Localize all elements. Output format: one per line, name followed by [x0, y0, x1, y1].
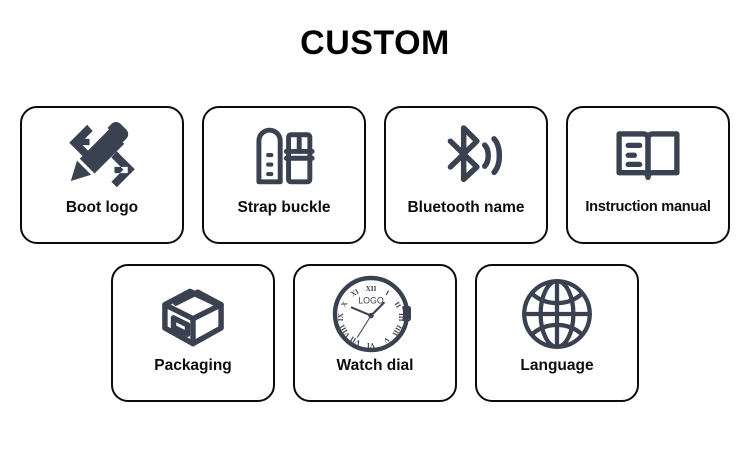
- watch-strap-buckle-icon: [246, 112, 322, 200]
- open-box-icon: [154, 270, 232, 358]
- svg-text:IX: IX: [337, 312, 345, 321]
- svg-text:III: III: [397, 313, 405, 322]
- option-label: Strap buckle: [204, 200, 364, 216]
- option-label: Boot logo: [22, 200, 182, 216]
- watch-dial-logo-text: LOGO: [358, 296, 384, 306]
- option-label: Packaging: [113, 358, 273, 374]
- globe-icon: [518, 270, 596, 358]
- pencil-design-icon: [63, 112, 141, 200]
- option-card-language[interactable]: Language: [475, 264, 639, 402]
- options-row-2: Packaging XII I II: [0, 264, 750, 402]
- page-title: CUSTOM: [0, 24, 750, 63]
- option-card-packaging[interactable]: Packaging: [111, 264, 275, 402]
- option-label: Instruction manual: [568, 200, 728, 215]
- options-grid: Boot logo: [0, 106, 750, 402]
- bluetooth-signal-icon: [427, 112, 505, 200]
- option-card-bluetooth-name[interactable]: Bluetooth name: [384, 106, 548, 244]
- svg-text:XII: XII: [366, 285, 377, 293]
- option-card-boot-logo[interactable]: Boot logo: [20, 106, 184, 244]
- option-card-strap-buckle[interactable]: Strap buckle: [202, 106, 366, 244]
- option-label: Language: [477, 358, 637, 374]
- option-card-instruction-manual[interactable]: Instruction manual: [566, 106, 730, 244]
- option-card-watch-dial[interactable]: XII I II III IIII V VI VII VIII IX X XI: [293, 264, 457, 402]
- option-label: Bluetooth name: [386, 200, 546, 216]
- svg-text:VI: VI: [367, 341, 375, 349]
- open-book-icon: [610, 112, 686, 200]
- options-row-1: Boot logo: [0, 106, 750, 244]
- watch-dial-icon: XII I II III IIII V VI VII VIII IX X XI: [331, 270, 419, 358]
- option-label: Watch dial: [295, 358, 455, 374]
- custom-options-page: CUSTOM: [0, 0, 750, 468]
